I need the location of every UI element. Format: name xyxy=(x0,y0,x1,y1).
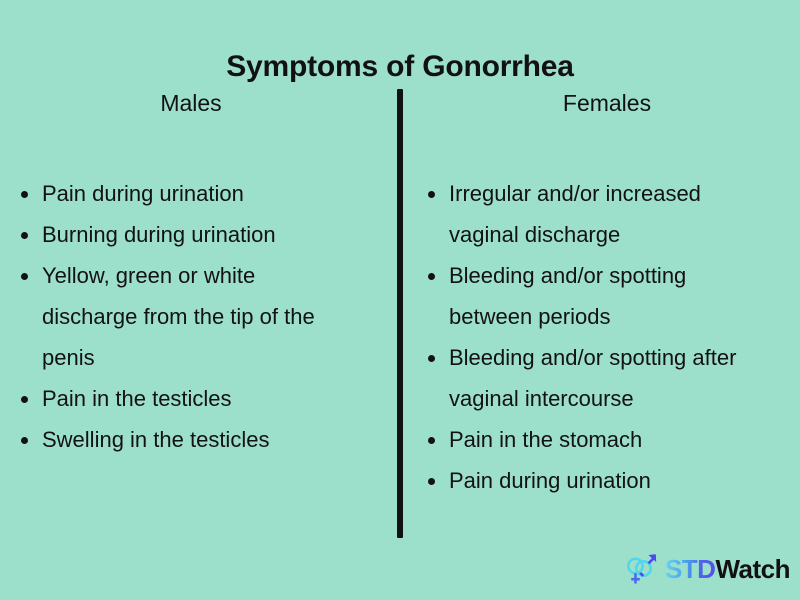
list-item: Yellow, green or white discharge from th… xyxy=(18,255,348,378)
list-item: Pain during urination xyxy=(18,173,348,214)
symptom-list-males: Pain during urination Burning during uri… xyxy=(18,173,348,460)
list-item: Pain in the testicles xyxy=(18,378,348,419)
column-females: Females Irregular and/or increased vagin… xyxy=(400,90,800,501)
gonorrhea-symptoms-infographic: Symptoms of Gonorrhea Males Pain during … xyxy=(0,0,800,600)
page-title: Symptoms of Gonorrhea xyxy=(0,50,800,83)
list-item: Pain in the stomach xyxy=(425,419,770,460)
combined-gender-symbols-icon xyxy=(620,549,660,589)
logo-wordmark: STDWatch xyxy=(665,556,790,582)
symptom-list-females: Irregular and/or increased vaginal disch… xyxy=(425,173,770,501)
list-item: Bleeding and/or spotting between periods xyxy=(425,255,770,337)
list-item: Burning during urination xyxy=(18,214,348,255)
list-item: Irregular and/or increased vaginal disch… xyxy=(425,173,770,255)
symptom-columns: Males Pain during urination Burning duri… xyxy=(0,90,800,540)
list-item: Pain during urination xyxy=(425,460,770,501)
column-heading-females: Females xyxy=(416,90,798,118)
logo-text-watch: Watch xyxy=(715,556,790,582)
list-item: Bleeding and/or spotting after vaginal i… xyxy=(425,337,770,419)
brand-logo: STDWatch xyxy=(620,546,790,592)
column-heading-males: Males xyxy=(0,90,382,118)
logo-text-std: STD xyxy=(665,556,716,582)
column-males: Males Pain during urination Burning duri… xyxy=(0,90,400,460)
list-item: Swelling in the testicles xyxy=(18,419,348,460)
